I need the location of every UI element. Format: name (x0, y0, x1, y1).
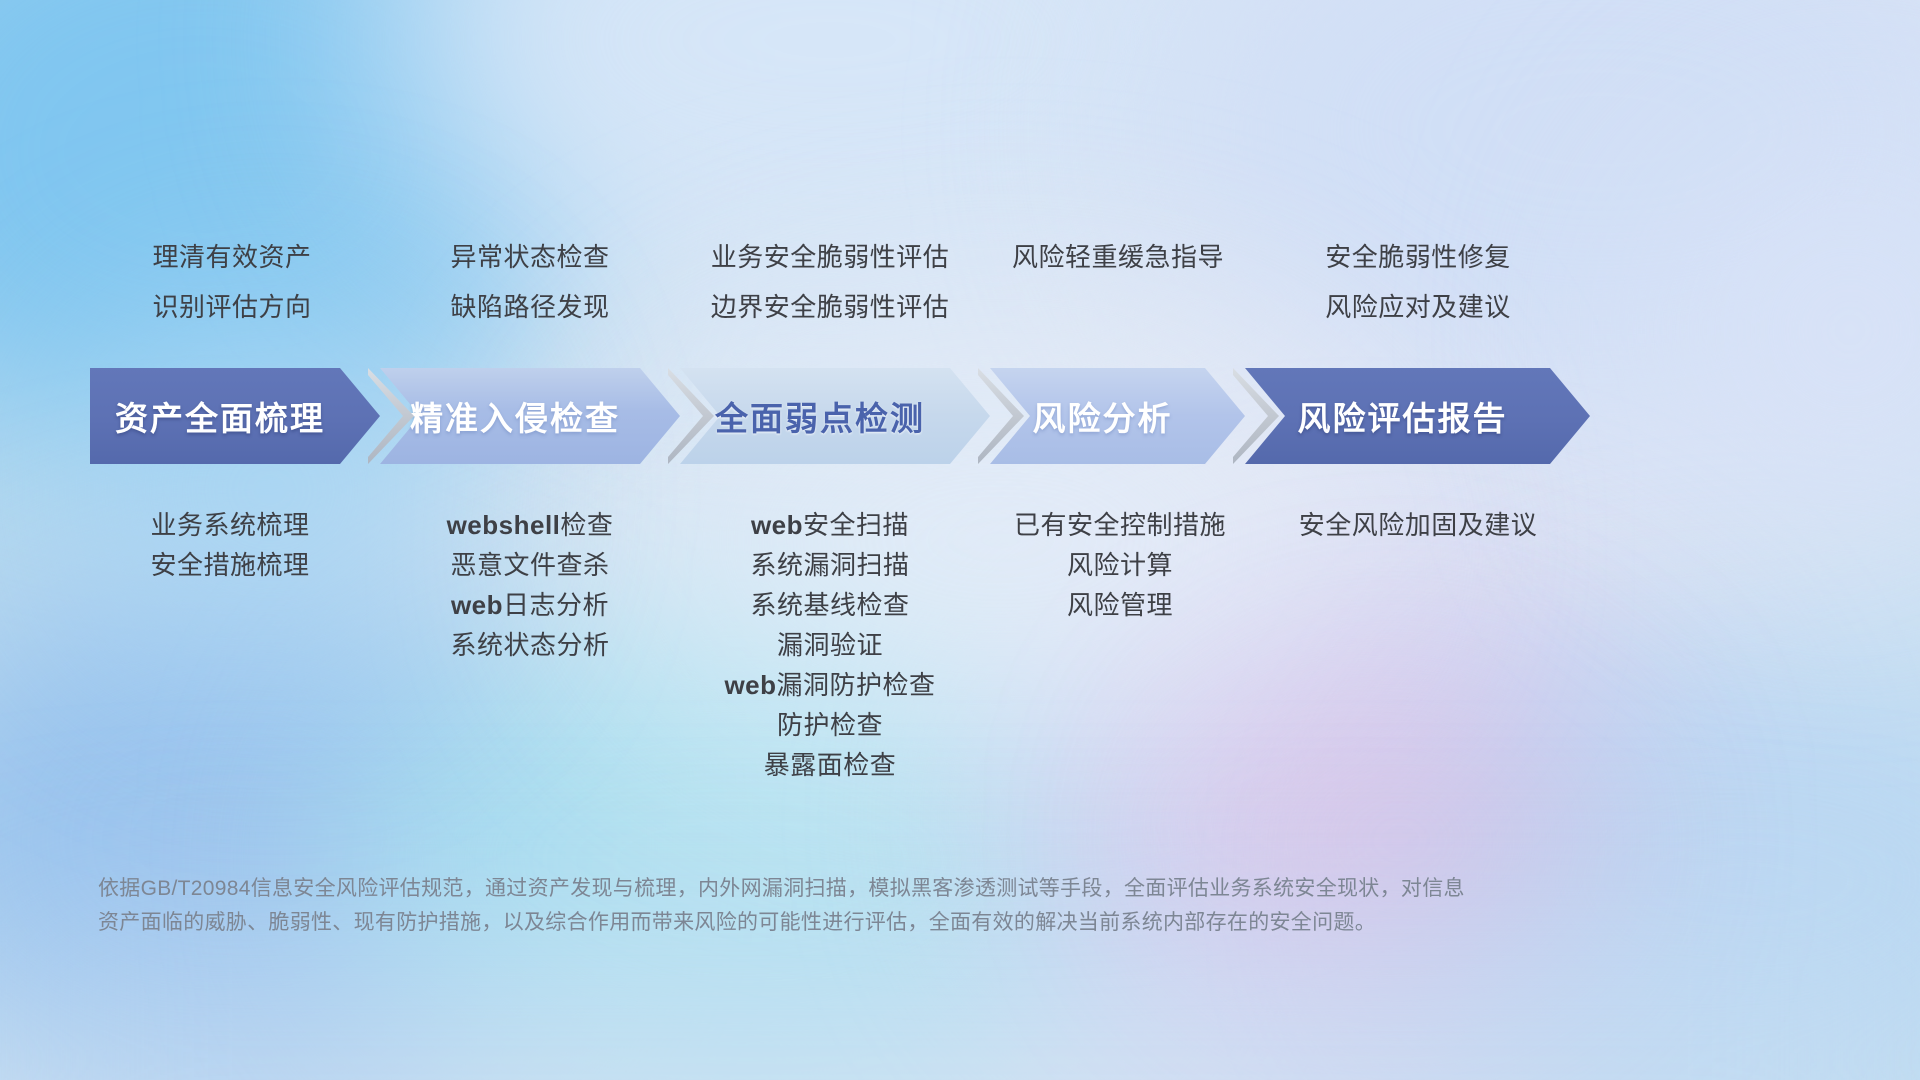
stage-chevron-risk-report[interactable]: 风险评估报告 (1245, 368, 1590, 464)
stage-label: 资产全面梳理 (115, 392, 325, 440)
stage-label: 风险评估报告 (1298, 392, 1508, 440)
footer-description: 依据GB/T20984信息安全风险评估规范，通过资产发现与梳理，内外网漏洞扫描，… (98, 872, 1658, 940)
stage-chevron-risk-analysis[interactable]: 风险分析 (990, 368, 1245, 464)
top-list-risk-report: 安全脆弱性修复风险应对及建议 (1168, 244, 1668, 320)
stage-label: 精准入侵检查 (410, 392, 620, 440)
detail-list-item: 暴露面检查 (580, 752, 1080, 778)
detail-list-item: 安全风险加固及建议 (1168, 512, 1668, 538)
stage-chevron-weakness-detection[interactable]: 全面弱点检测 (680, 368, 990, 464)
detail-list-risk-report: 安全风险加固及建议 (1168, 512, 1668, 552)
detail-list-item: 风险计算 (870, 552, 1370, 578)
stage-label: 全面弱点检测 (715, 392, 925, 440)
top-list-item: 安全脆弱性修复 (1168, 244, 1668, 270)
detail-list-item: web漏洞防护检查 (580, 672, 1080, 698)
top-list-item: 边界安全脆弱性评估 (580, 294, 1080, 320)
process-chevron-band: 资产全面梳理 精准入侵检查 全面弱点检测 风险分析 风险评估报告 (0, 368, 1920, 464)
stage-chevron-asset-inventory[interactable]: 资产全面梳理 (90, 368, 380, 464)
detail-list-item: 防护检查 (580, 712, 1080, 738)
top-list-item: 风险应对及建议 (1168, 294, 1668, 320)
slide-canvas: 理清有效资产识别评估方向 异常状态检查缺陷路径发现 业务安全脆弱性评估边界安全脆… (0, 0, 1920, 1080)
detail-list-item: 漏洞验证 (580, 632, 1080, 658)
stage-label: 风险分析 (1033, 392, 1173, 440)
footer-line-2: 资产面临的威胁、脆弱性、现有防护措施，以及综合作用而带来风险的可能性进行评估，全… (98, 906, 1658, 940)
stage-chevron-intrusion-check[interactable]: 精准入侵检查 (380, 368, 680, 464)
detail-list-item: 风险管理 (870, 592, 1370, 618)
footer-line-1: 依据GB/T20984信息安全风险评估规范，通过资产发现与梳理，内外网漏洞扫描，… (98, 872, 1658, 906)
